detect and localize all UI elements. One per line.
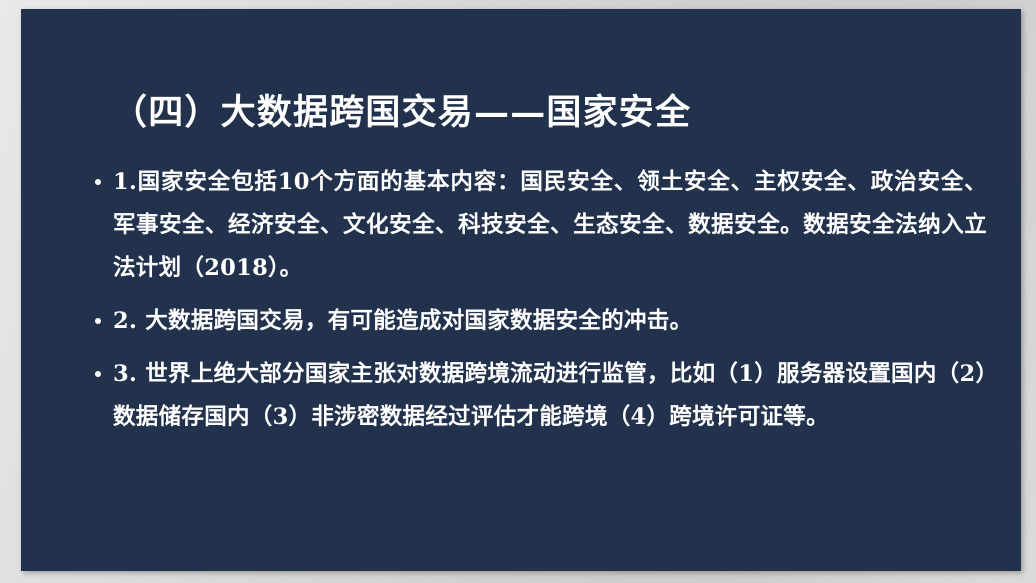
presentation-slide: （四）大数据跨国交易——国家安全 1.国家安全包括10个方面的基本内容：国民安全… bbox=[21, 9, 1021, 571]
slide-viewport: （四）大数据跨国交易——国家安全 1.国家安全包括10个方面的基本内容：国民安全… bbox=[0, 0, 1036, 583]
bullet-dot-icon bbox=[95, 318, 101, 324]
bullet-dot-icon bbox=[95, 371, 101, 377]
bullet-dot-icon bbox=[95, 179, 101, 185]
list-item: 1.国家安全包括10个方面的基本内容：国民安全、领土安全、主权安全、政治安全、军… bbox=[89, 161, 987, 290]
list-item: 2. 大数据跨国交易，有可能造成对国家数据安全的冲击。 bbox=[89, 300, 987, 343]
list-item-text: 3. 世界上绝大部分国家主张对数据跨境流动进行监管，比如（1）服务器设置国内（2… bbox=[113, 353, 987, 439]
page-title: （四）大数据跨国交易——国家安全 bbox=[112, 87, 952, 139]
slide-body-content: 1.国家安全包括10个方面的基本内容：国民安全、领土安全、主权安全、政治安全、军… bbox=[89, 161, 987, 439]
list-item-text: 1.国家安全包括10个方面的基本内容：国民安全、领土安全、主权安全、政治安全、军… bbox=[113, 161, 987, 290]
list-item: 3. 世界上绝大部分国家主张对数据跨境流动进行监管，比如（1）服务器设置国内（2… bbox=[89, 353, 987, 439]
list-item-text: 2. 大数据跨国交易，有可能造成对国家数据安全的冲击。 bbox=[113, 300, 987, 343]
